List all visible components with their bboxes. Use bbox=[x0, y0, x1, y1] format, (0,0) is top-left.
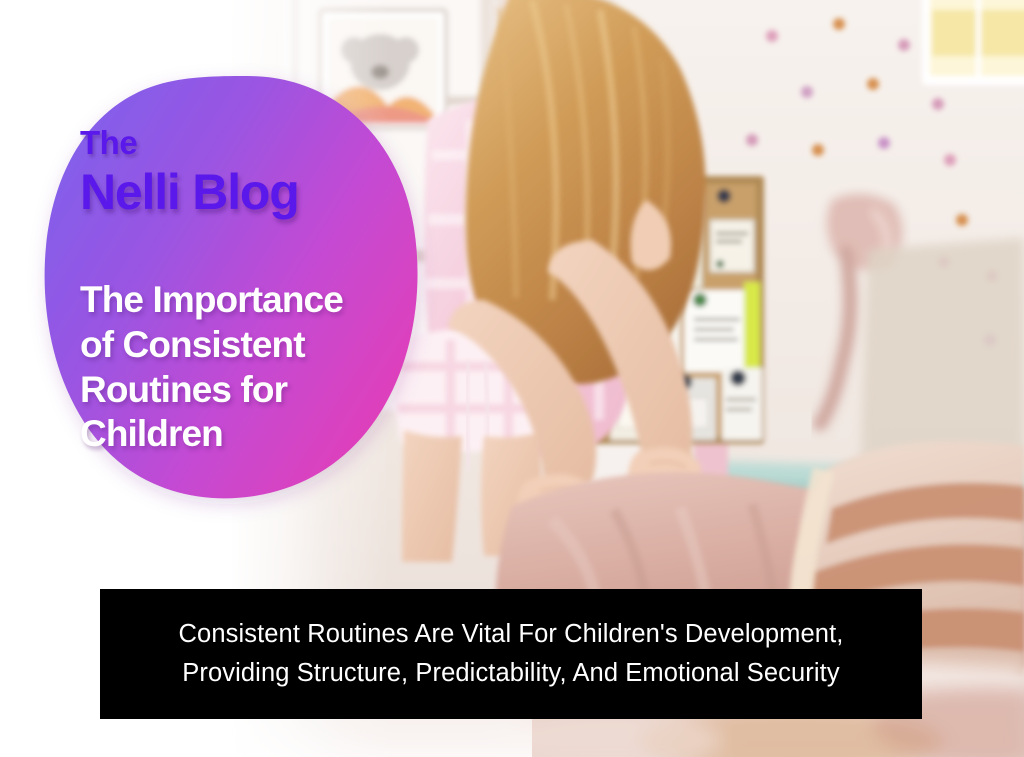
caption-line-2: Providing Structure, Predictability, And… bbox=[182, 654, 839, 693]
headline-line-4: Children bbox=[80, 412, 450, 457]
brand-block: The Nelli Blog bbox=[80, 126, 299, 218]
caption-line-1: Consistent Routines Are Vital For Childr… bbox=[179, 615, 844, 654]
brand-name: Nelli Blog bbox=[80, 167, 299, 218]
caption-bar: Consistent Routines Are Vital For Childr… bbox=[100, 589, 922, 719]
brand-prefix: The bbox=[80, 126, 299, 159]
headline-line-3: Routines for bbox=[80, 368, 450, 413]
headline-line-1: The Importance bbox=[80, 278, 450, 323]
blog-poster-card: The Nelli Blog The Importance of Consist… bbox=[0, 0, 1024, 757]
page-title: The Importance of Consistent Routines fo… bbox=[80, 278, 450, 457]
headline-line-2: of Consistent bbox=[80, 323, 450, 368]
